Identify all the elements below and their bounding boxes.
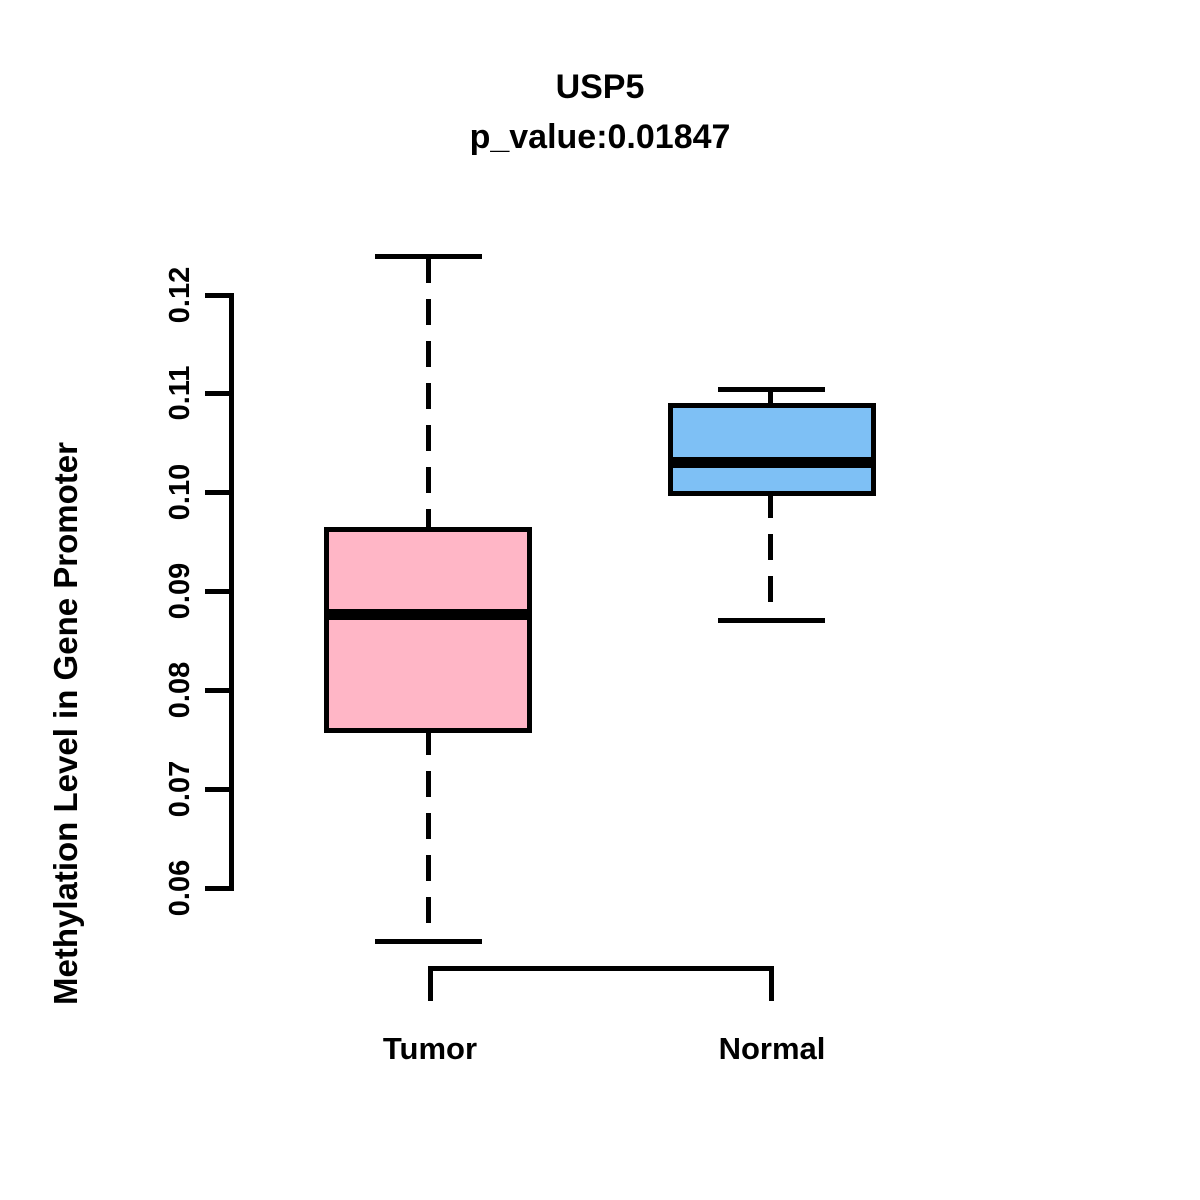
tumor-whisker-upper: [426, 257, 431, 531]
page-title: USP5: [0, 68, 1200, 107]
y-tick-mark: [205, 391, 231, 396]
y-tick-mark: [205, 293, 231, 298]
x-tick-label-normal: Normal: [622, 1031, 922, 1067]
y-tick-mark: [205, 787, 231, 792]
chart-subtitle-pvalue: p_value:0.01847: [0, 118, 1200, 157]
tumor-median-line: [324, 609, 532, 620]
normal-median-line: [668, 457, 876, 468]
x-tick-mark: [428, 966, 433, 1001]
normal-whisker-lower: [768, 492, 773, 620]
y-tick-mark: [205, 688, 231, 693]
normal-whisker-cap-upper: [718, 387, 825, 392]
y-tick-mark: [205, 490, 231, 495]
y-axis-title: Methylation Level in Gene Promoter: [44, 5, 88, 1005]
y-tick-label: 0.12: [165, 235, 195, 355]
x-axis-line: [428, 966, 774, 971]
x-tick-mark: [769, 966, 774, 1001]
tumor-box: [324, 527, 532, 733]
x-tick-label-tumor: Tumor: [280, 1031, 580, 1067]
y-tick-mark: [205, 589, 231, 594]
normal-whisker-cap-lower: [718, 618, 825, 623]
tumor-whisker-cap-lower: [375, 939, 482, 944]
tumor-whisker-lower: [426, 729, 431, 943]
y-tick-mark: [205, 886, 231, 891]
normal-box: [668, 403, 876, 496]
tumor-whisker-cap-upper: [375, 254, 482, 259]
boxplot-figure: USP5 p_value:0.01847 Methylation Level i…: [0, 0, 1200, 1200]
